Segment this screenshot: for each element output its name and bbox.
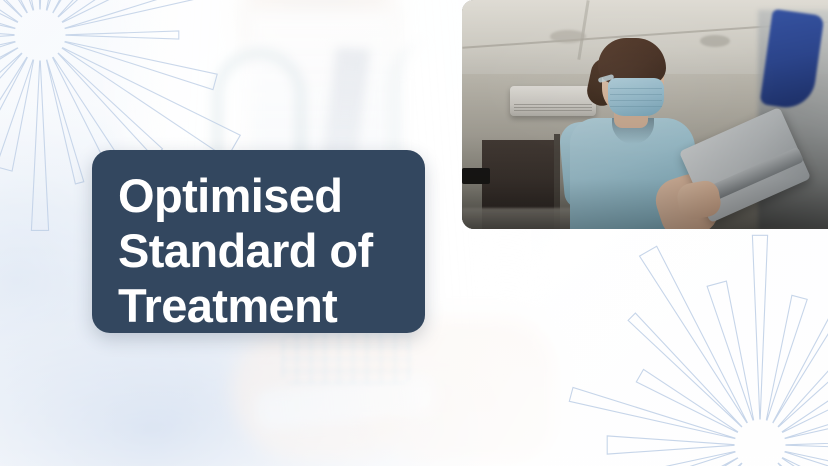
photo-color-grade <box>462 0 828 229</box>
slide-canvas: Optimised Standard of Treatment <box>0 0 828 466</box>
nurse-photo-panel <box>462 0 828 229</box>
title-line-1: Optimised <box>118 168 405 223</box>
title-line-2: Standard of <box>118 223 405 278</box>
title-card: Optimised Standard of Treatment <box>92 150 425 333</box>
title-line-3: Treatment <box>118 278 405 333</box>
